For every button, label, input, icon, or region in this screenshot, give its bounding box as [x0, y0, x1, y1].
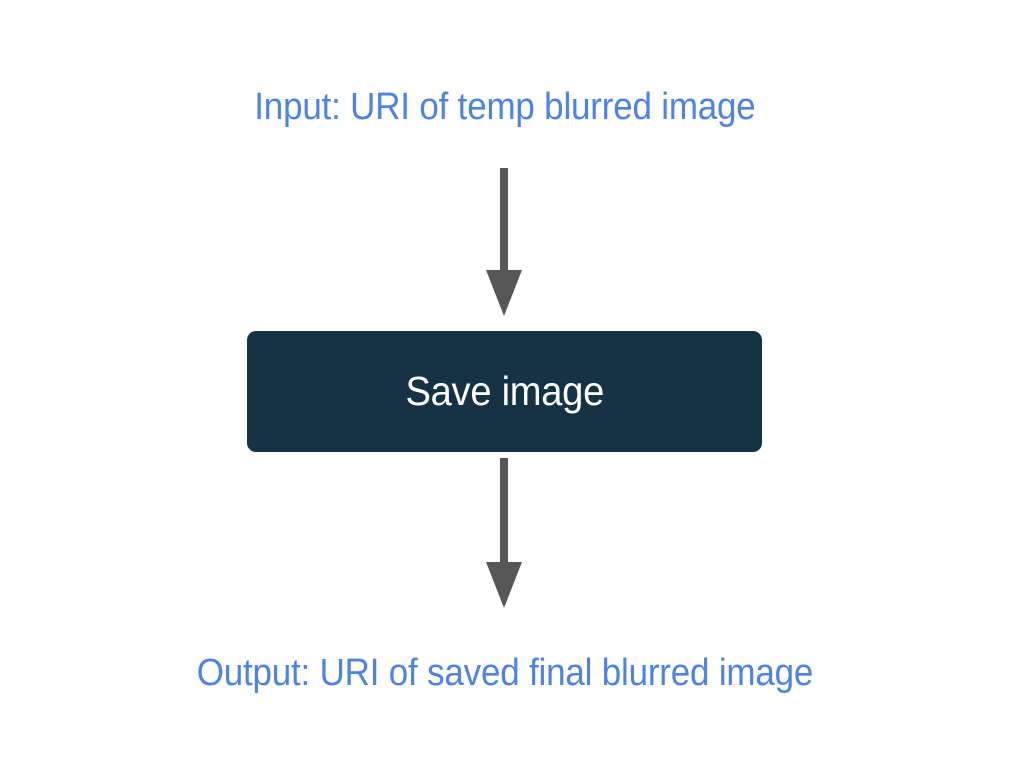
input-label: Input: URI of temp blurred image: [40, 88, 969, 126]
flowchart-canvas: Input: URI of temp blurred image Save im…: [0, 0, 1010, 760]
process-node-label: Save image: [405, 371, 604, 412]
process-node-save-image[interactable]: Save image: [247, 331, 762, 452]
arrow-process-to-output-icon: [468, 458, 540, 613]
arrow-input-to-process-icon: [468, 168, 540, 320]
output-label: Output: URI of saved final blurred image: [40, 654, 969, 692]
